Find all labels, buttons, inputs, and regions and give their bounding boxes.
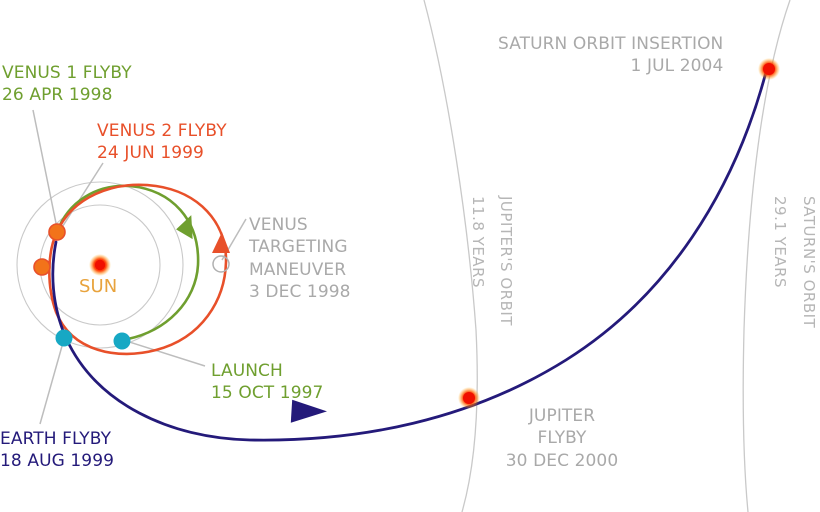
label-jupiter-period: 11.8 YEARS <box>469 196 487 288</box>
label-saturn-orbit-insertion: SATURN ORBIT INSERTION 1 JUL 2004 <box>498 33 723 78</box>
label-saturn-period: 29.1 YEARS <box>771 196 789 288</box>
label-launch: LAUNCH 15 OCT 1997 <box>211 360 323 405</box>
label-earth-flyby: EARTH FLYBY 18 AUG 1999 <box>0 428 114 473</box>
leader-line-venus1 <box>33 110 58 233</box>
venus-flyby-2-dot <box>34 259 50 275</box>
saturn-orbit-insertion-dot <box>763 63 775 75</box>
sun-dot <box>95 260 105 270</box>
orange-trajectory-arrow <box>212 232 230 253</box>
label-saturns-orbit: SATURN'S ORBIT <box>800 196 818 328</box>
leader-line-earth-flyby <box>40 339 64 424</box>
label-venus-2-flyby: VENUS 2 FLYBY 24 JUN 1999 <box>97 120 227 165</box>
venus-flyby-1-dot <box>49 224 65 240</box>
label-venus-1-flyby: VENUS 1 FLYBY 26 APR 1998 <box>2 62 132 107</box>
earth-launch-dot <box>114 333 131 350</box>
label-venus-targeting-maneuver: VENUS TARGETING MANEUVER 3 DEC 1998 <box>249 214 351 304</box>
leader-line-venus2 <box>59 163 103 232</box>
label-sun: SUN <box>79 275 117 299</box>
label-jupiters-orbit: JUPITER'S ORBIT <box>497 196 515 326</box>
earth-flyby-dot <box>56 330 73 347</box>
label-jupiter-flyby: JUPITER FLYBY 30 DEC 2000 <box>497 405 627 472</box>
cassini-trajectory-diagram: VENUS 1 FLYBY 26 APR 1998 VENUS 2 FLYBY … <box>0 0 820 512</box>
jupiter-flyby-dot <box>463 392 475 404</box>
green-trajectory-arrow <box>174 215 194 241</box>
